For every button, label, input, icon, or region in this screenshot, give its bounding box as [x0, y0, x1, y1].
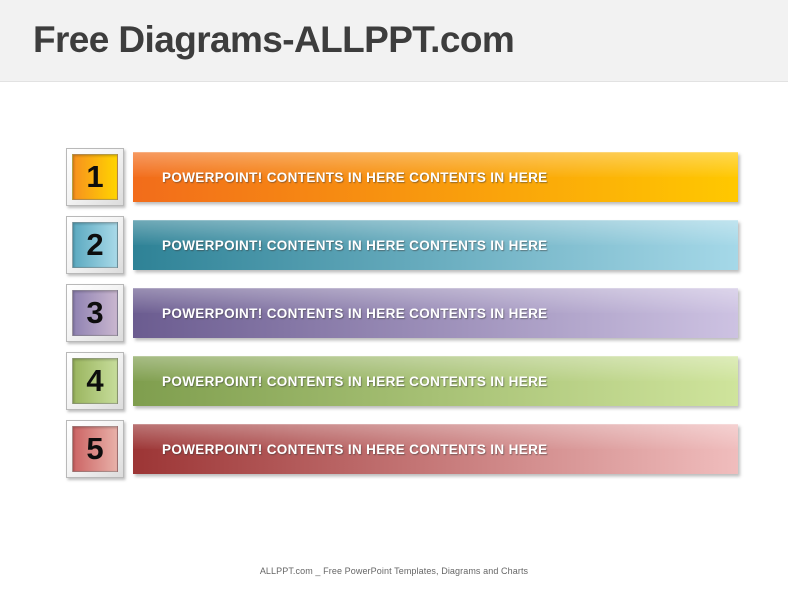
number-badge-inner-5: 5 — [72, 426, 118, 472]
badge-number-label-1: 1 — [86, 161, 103, 192]
badge-number-label-3: 3 — [86, 297, 103, 328]
number-badge-1[interactable]: 1 — [66, 148, 124, 206]
diagram-row-2[interactable]: 2 POWERPOINT! CONTENTS IN HERE CONTENTS … — [66, 216, 738, 274]
number-badge-inner-2: 2 — [72, 222, 118, 268]
page-title: Free Diagrams-ALLPPT.com — [33, 17, 514, 63]
diagram-row-4[interactable]: 4 POWERPOINT! CONTENTS IN HERE CONTENTS … — [66, 352, 738, 410]
badge-number-label-5: 5 — [86, 433, 103, 464]
content-bar-label-2: POWERPOINT! CONTENTS IN HERE CONTENTS IN… — [162, 238, 548, 253]
badge-number-label-4: 4 — [86, 365, 103, 396]
number-badge-inner-1: 1 — [72, 154, 118, 200]
content-bar-2[interactable]: POWERPOINT! CONTENTS IN HERE CONTENTS IN… — [133, 220, 738, 270]
diagram-row-3[interactable]: 3 POWERPOINT! CONTENTS IN HERE CONTENTS … — [66, 284, 738, 342]
content-bar-label-1: POWERPOINT! CONTENTS IN HERE CONTENTS IN… — [162, 170, 548, 185]
diagram-canvas: 1 POWERPOINT! CONTENTS IN HERE CONTENTS … — [0, 82, 788, 542]
number-badge-inner-3: 3 — [72, 290, 118, 336]
content-bar-1[interactable]: POWERPOINT! CONTENTS IN HERE CONTENTS IN… — [133, 152, 738, 202]
content-bar-5[interactable]: POWERPOINT! CONTENTS IN HERE CONTENTS IN… — [133, 424, 738, 474]
content-bar-label-5: POWERPOINT! CONTENTS IN HERE CONTENTS IN… — [162, 442, 548, 457]
number-badge-inner-4: 4 — [72, 358, 118, 404]
header-band: Free Diagrams-ALLPPT.com — [0, 0, 788, 82]
content-bar-label-3: POWERPOINT! CONTENTS IN HERE CONTENTS IN… — [162, 306, 548, 321]
content-bar-3[interactable]: POWERPOINT! CONTENTS IN HERE CONTENTS IN… — [133, 288, 738, 338]
footer-credit: ALLPPT.com _ Free PowerPoint Templates, … — [0, 566, 788, 576]
number-badge-3[interactable]: 3 — [66, 284, 124, 342]
content-bar-4[interactable]: POWERPOINT! CONTENTS IN HERE CONTENTS IN… — [133, 356, 738, 406]
number-badge-5[interactable]: 5 — [66, 420, 124, 478]
badge-number-label-2: 2 — [86, 229, 103, 260]
diagram-row-5[interactable]: 5 POWERPOINT! CONTENTS IN HERE CONTENTS … — [66, 420, 738, 478]
diagram-row-1[interactable]: 1 POWERPOINT! CONTENTS IN HERE CONTENTS … — [66, 148, 738, 206]
number-badge-2[interactable]: 2 — [66, 216, 124, 274]
content-bar-label-4: POWERPOINT! CONTENTS IN HERE CONTENTS IN… — [162, 374, 548, 389]
number-badge-4[interactable]: 4 — [66, 352, 124, 410]
